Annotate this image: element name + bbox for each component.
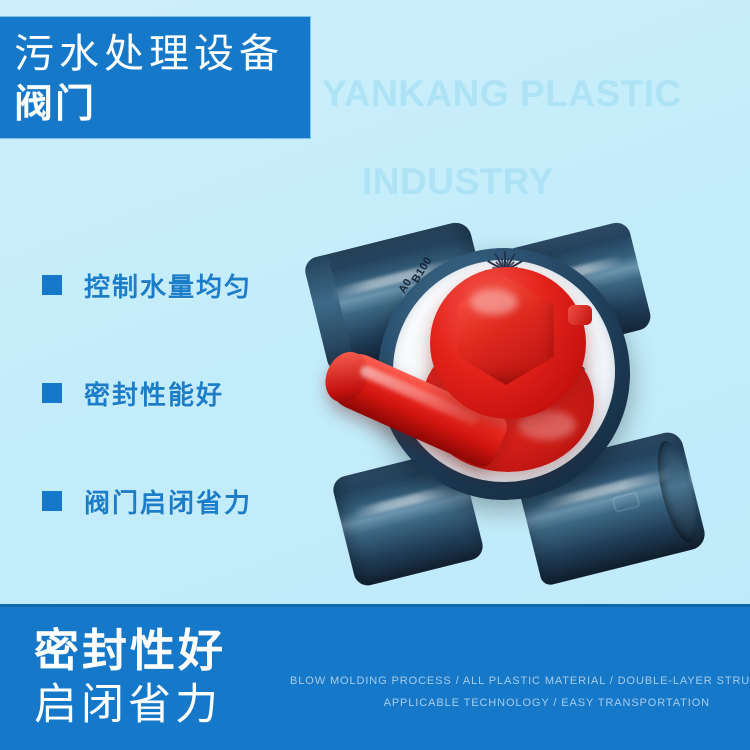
square-bullet-icon (42, 491, 62, 511)
dial-tick (504, 171, 506, 271)
pipe-mold-mark (612, 492, 641, 514)
cap-pointer-nub (568, 305, 592, 325)
pipe-highlight (351, 483, 456, 518)
feature-label: 阀门启闭省力 (84, 483, 252, 520)
header-title-box: 污水处理设备 阀门 (0, 16, 311, 139)
feature-label: 密封性能好 (84, 375, 224, 412)
list-item: 密封性能好 (42, 376, 322, 410)
square-bullet-icon (42, 383, 62, 403)
list-item: 控制水量均匀 (42, 268, 322, 302)
list-item: 阀门启闭省力 (42, 484, 322, 518)
footer-banner: 密封性好 启闭省力 BLOW MOLDING PROCESS / ALL PLA… (0, 604, 750, 750)
footer-tagline-line-1: BLOW MOLDING PROCESS / ALL PLASTIC MATER… (290, 670, 710, 692)
feature-label: 控制水量均匀 (84, 267, 252, 304)
watermark-line-2: INDUSTRY (322, 160, 750, 204)
poster-canvas: YANKANG PLASTIC INDUSTRY 污水处理设备 阀门 控制水量均… (0, 0, 750, 750)
footer-tagline-group: BLOW MOLDING PROCESS / ALL PLASTIC MATER… (290, 670, 710, 714)
footer-tagline-line-2: APPLICABLE TECHNOLOGY / EASY TRANSPORTAT… (290, 692, 710, 714)
feature-list: 控制水量均匀 密封性能好 阀门启闭省力 (42, 268, 322, 518)
square-bullet-icon (42, 275, 62, 295)
page-subtitle: 阀门 (14, 81, 310, 129)
product-image-four-way-valve: B100 A0 A100 B0 (300, 212, 700, 592)
cap-highlight (470, 289, 518, 315)
watermark-line-1: YANKANG PLASTIC (322, 73, 682, 114)
page-title: 污水处理设备 (14, 29, 310, 79)
pipe-socket-opening (650, 437, 704, 545)
valve-hex-cap (430, 267, 586, 419)
